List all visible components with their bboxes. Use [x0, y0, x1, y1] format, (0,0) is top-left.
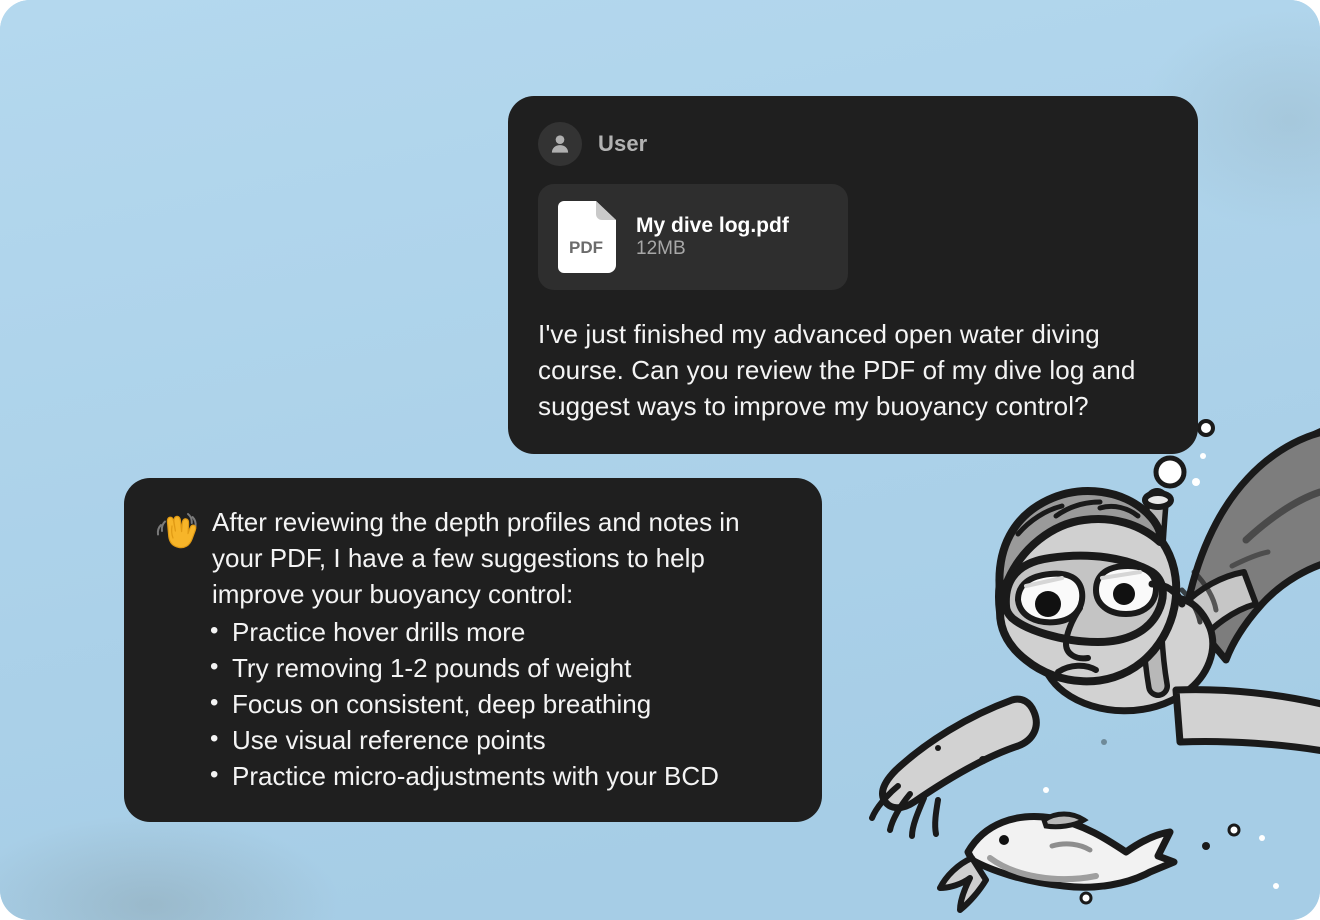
pdf-file-icon: PDF: [558, 201, 616, 273]
user-message-text: I've just finished my advanced open wate…: [538, 316, 1168, 424]
assistant-message-bubble: After reviewing the depth profiles and n…: [124, 478, 822, 822]
snorkeler-figure: [872, 428, 1320, 836]
waving-hand-icon: [154, 506, 198, 550]
svg-text:PDF: PDF: [569, 238, 603, 257]
screenshot-canvas: User PDF My dive log.pdf 12MB I've just …: [0, 0, 1320, 920]
assistant-intro-text: After reviewing the depth profiles and n…: [212, 504, 794, 612]
message-author-row: User: [538, 122, 1168, 166]
list-item: Practice micro-adjustments with your BCD: [210, 758, 794, 794]
file-size: 12MB: [636, 238, 686, 259]
author-name: User: [598, 131, 647, 157]
list-item: Use visual reference points: [210, 722, 794, 758]
person-icon: [538, 122, 582, 166]
list-item: Practice hover drills more: [210, 614, 794, 650]
user-message-bubble: User PDF My dive log.pdf 12MB I've just …: [508, 96, 1198, 454]
pdf-attachment-card[interactable]: PDF My dive log.pdf 12MB: [538, 184, 848, 290]
suggestion-list: Practice hover drills more Try removing …: [154, 614, 794, 794]
fish-figure: [940, 814, 1174, 910]
air-bubbles: [935, 391, 1279, 903]
file-name: My dive log.pdf: [636, 214, 789, 237]
list-item: Focus on consistent, deep breathing: [210, 686, 794, 722]
file-meta: My dive log.pdf 12MB: [636, 213, 828, 261]
list-item: Try removing 1-2 pounds of weight: [210, 650, 794, 686]
assistant-intro-row: After reviewing the depth profiles and n…: [154, 504, 794, 612]
